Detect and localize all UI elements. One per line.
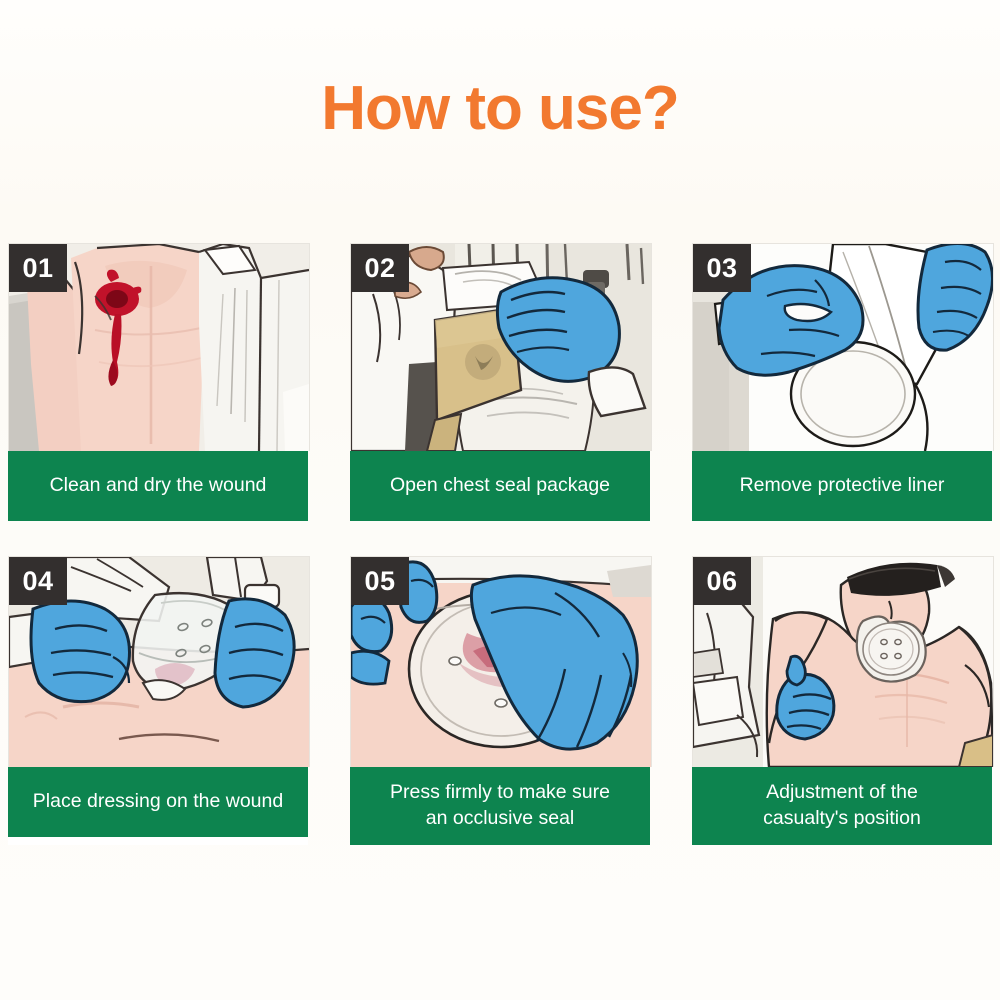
step-number-badge-02: 02 bbox=[351, 244, 409, 292]
step-illustration-04: 04 bbox=[8, 556, 310, 767]
step-card-04[interactable]: 04 Place dressing on the wound bbox=[8, 556, 308, 845]
step-caption-03: Remove protective liner bbox=[692, 451, 992, 521]
step-caption-text-06: Adjustment of the casualty's position bbox=[700, 780, 984, 831]
step-number-badge-06: 06 bbox=[693, 557, 751, 605]
step-caption-05: Press firmly to make sure an occlusive s… bbox=[350, 767, 650, 845]
step-card-06[interactable]: 06 Adjustment of the casualty's position bbox=[692, 556, 992, 845]
step-caption-06: Adjustment of the casualty's position bbox=[692, 767, 992, 845]
step-caption-text-03: Remove protective liner bbox=[702, 473, 982, 499]
step-number-badge-05: 05 bbox=[351, 557, 409, 605]
step-illustration-06: 06 bbox=[692, 556, 994, 767]
steps-row-bottom: 04 Place dressing on the wound bbox=[8, 556, 992, 845]
step-caption-text-02: Open chest seal package bbox=[360, 473, 640, 499]
steps-row-top: 01 Clean and dry the wound bbox=[8, 243, 992, 521]
step-card-01[interactable]: 01 Clean and dry the wound bbox=[8, 243, 308, 521]
step-caption-text-04: Place dressing on the wound bbox=[18, 789, 298, 815]
step-number-badge-03: 03 bbox=[693, 244, 751, 292]
step-caption-text-01: Clean and dry the wound bbox=[18, 473, 298, 499]
step-card-05[interactable]: 05 Press firmly to make sure an occlusiv… bbox=[350, 556, 650, 845]
step-card-03[interactable]: 03 Remove protective liner bbox=[692, 243, 992, 521]
step-illustration-05: 05 bbox=[350, 556, 652, 767]
infographic-page: How to use? bbox=[0, 0, 1000, 1000]
step-illustration-02: 02 bbox=[350, 243, 652, 451]
step-card-02[interactable]: 02 Open chest seal package bbox=[350, 243, 650, 521]
step-illustration-03: 03 bbox=[692, 243, 994, 451]
page-title: How to use? bbox=[0, 78, 1000, 140]
step-caption-text-05: Press firmly to make sure an occlusive s… bbox=[358, 780, 642, 831]
step-number-badge-04: 04 bbox=[9, 557, 67, 605]
step-illustration-01: 01 bbox=[8, 243, 310, 451]
step-number-badge-01: 01 bbox=[9, 244, 67, 292]
steps-grid: 01 Clean and dry the wound bbox=[8, 243, 992, 845]
step-caption-04: Place dressing on the wound bbox=[8, 767, 308, 837]
step-caption-02: Open chest seal package bbox=[350, 451, 650, 521]
step-caption-01: Clean and dry the wound bbox=[8, 451, 308, 521]
